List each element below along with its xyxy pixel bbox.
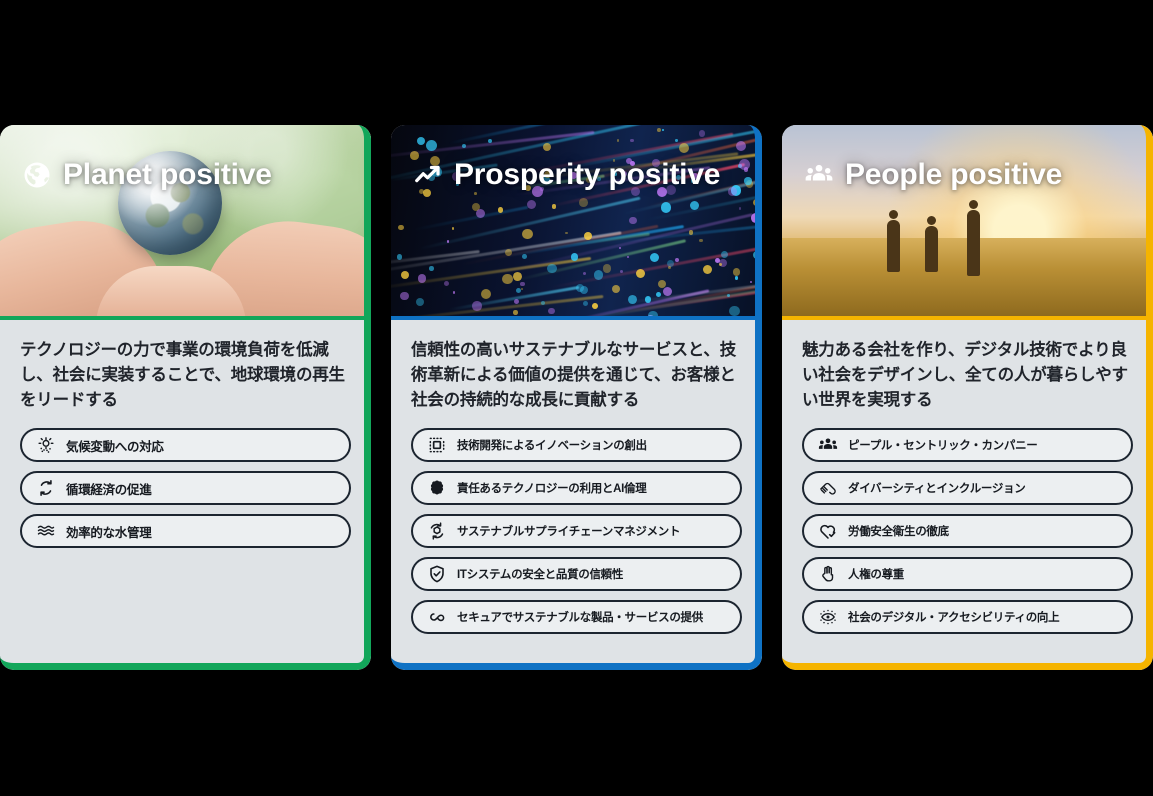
list-item-label: 技術開発によるイノベーションの創出 [457, 437, 647, 453]
pillar-cards-row: Planet positive テクノロジーの力で事業の環境負荷を低減し、社会に… [0, 125, 1153, 670]
eye-accessibility-icon [818, 607, 838, 627]
brain-icon [427, 478, 447, 498]
bokeh-dot-decoration [617, 139, 619, 141]
list-item-label: サステナブルサプライチェーンマネジメント [457, 523, 680, 539]
raised-hand-icon [818, 564, 838, 584]
water-waves-icon [36, 521, 56, 541]
pillar-item-list-people: ピープル・セントリック・カンパニー ダイバーシティとインクルージョン [802, 428, 1133, 634]
list-item-circular-economy[interactable]: 循環経済の促進 [20, 471, 351, 505]
list-item-ai-ethics[interactable]: 責任あるテクノロジーの利用とAI倫理 [411, 471, 742, 505]
bokeh-dot-decoration [739, 207, 742, 210]
bokeh-dot-decoration [498, 207, 504, 213]
bokeh-dot-decoration [401, 271, 409, 279]
list-item-supply-chain[interactable]: サステナブルサプライチェーンマネジメント [411, 514, 742, 548]
bokeh-dot-decoration [513, 310, 517, 314]
bokeh-dot-decoration [426, 140, 437, 151]
bokeh-dot-decoration [576, 284, 584, 292]
bokeh-dot-decoration [565, 232, 567, 234]
bokeh-dot-decoration [472, 301, 482, 311]
bokeh-dot-decoration [750, 281, 752, 283]
bokeh-dot-decoration [583, 272, 586, 275]
card-title-planet: Planet positive [22, 158, 272, 192]
bokeh-dot-decoration [627, 256, 629, 258]
bokeh-dot-decoration [474, 192, 477, 195]
bokeh-dot-decoration [453, 291, 455, 293]
card-body-planet: テクノロジーの力で事業の環境負荷を低減し、社会に実装することで、地球環境の再生を… [0, 320, 371, 666]
bokeh-dot-decoration [429, 266, 434, 271]
bokeh-dot-decoration [592, 303, 598, 309]
bokeh-dot-decoration [444, 281, 449, 286]
bokeh-dot-decoration [728, 187, 737, 196]
list-item-digital-accessibility[interactable]: 社会のデジタル・アクセシビリティの向上 [802, 600, 1133, 634]
bokeh-dot-decoration [727, 294, 730, 297]
pillar-item-list-prosperity: 技術開発によるイノベーションの創出 責任あるテクノロジーの利用とAI倫理 [411, 428, 742, 634]
shield-check-icon [427, 564, 447, 584]
bokeh-dot-decoration [689, 230, 693, 234]
infinity-icon [427, 607, 447, 627]
bokeh-dot-decoration [452, 227, 454, 229]
list-item-label: ダイバーシティとインクルージョン [848, 480, 1025, 496]
bokeh-dot-decoration [736, 141, 746, 151]
supply-chain-recycle-icon [427, 521, 447, 541]
bokeh-dot-decoration [630, 139, 634, 143]
people-group-icon [818, 435, 838, 455]
list-item-secure-sustainable-products[interactable]: セキュアでサステナブルな製品・サービスの提供 [411, 600, 742, 634]
bokeh-dot-decoration [527, 200, 536, 209]
card-title-prosperity: Prosperity positive [413, 158, 720, 192]
bokeh-dot-decoration [543, 143, 551, 151]
bokeh-dot-decoration [703, 265, 712, 274]
bokeh-dot-decoration [416, 298, 424, 306]
bokeh-dot-decoration [418, 274, 426, 282]
card-prosperity-positive[interactable]: Prosperity positive 信頼性の高いサステナブルなサービスと、技… [391, 125, 762, 670]
list-item-occupational-health-safety[interactable]: 労働安全衛生の徹底 [802, 514, 1133, 548]
globe-icon [22, 160, 52, 190]
bokeh-dot-decoration [744, 177, 751, 184]
adult-figure-3 [967, 210, 980, 276]
bokeh-dot-decoration [657, 128, 661, 132]
bokeh-dot-decoration [668, 266, 671, 269]
bokeh-dot-decoration [636, 269, 645, 278]
artwork-data-streams [391, 125, 762, 316]
child-figure-2 [925, 226, 938, 272]
bokeh-dot-decoration [721, 251, 728, 258]
bokeh-dot-decoration [502, 274, 512, 284]
bokeh-dot-decoration [520, 282, 524, 286]
recycle-icon [36, 478, 56, 498]
bokeh-dot-decoration [398, 225, 403, 230]
bokeh-dot-decoration [548, 308, 554, 314]
bokeh-dot-decoration [751, 213, 761, 223]
bokeh-dot-decoration [729, 306, 740, 316]
bokeh-dot-decoration [417, 137, 425, 145]
bokeh-dot-decoration [583, 301, 588, 306]
bokeh-dot-decoration [733, 268, 741, 276]
heart-check-icon [818, 521, 838, 541]
list-item-innovation[interactable]: 技術開発によるイノベーションの創出 [411, 428, 742, 462]
artwork-children-field-sunset [782, 125, 1153, 316]
card-title-people: People positive [804, 158, 1062, 192]
card-description: テクノロジーの力で事業の環境負荷を低減し、社会に実装することで、地球環境の再生を… [20, 338, 351, 412]
bokeh-dot-decoration [650, 253, 659, 262]
card-body-people: 魅力ある会社を作り、デジタル技術でより良い社会をデザインし、全ての人が暮らしやす… [782, 320, 1153, 666]
list-item-label: セキュアでサステナブルな製品・サービスの提供 [457, 609, 703, 625]
dashed-square-icon [427, 435, 447, 455]
list-item-label: 人権の尊重 [848, 566, 904, 582]
bokeh-dot-decoration [648, 311, 657, 316]
bokeh-dot-decoration [481, 289, 491, 299]
bokeh-dot-decoration [645, 296, 652, 303]
bokeh-dot-decoration [699, 239, 703, 243]
card-description: 魅力ある会社を作り、デジタル技術でより良い社会をデザインし、全ての人が暮らしやす… [802, 338, 1133, 412]
list-item-label: 労働安全衛生の徹底 [848, 523, 949, 539]
handshake-icon [818, 478, 838, 498]
list-item-label: 効率的な水管理 [66, 522, 151, 541]
bokeh-dot-decoration [603, 264, 612, 273]
bokeh-dot-decoration [753, 199, 760, 206]
bokeh-dot-decoration [552, 204, 557, 209]
bokeh-dot-decoration [699, 130, 705, 136]
bokeh-dot-decoration [675, 139, 677, 141]
slide-canvas: Planet positive テクノロジーの力で事業の環境負荷を低減し、社会に… [0, 0, 1153, 796]
trending-up-icon [413, 160, 443, 190]
bokeh-dot-decoration [522, 254, 527, 259]
list-item-label: 循環経済の促進 [66, 479, 151, 498]
bokeh-dot-decoration [735, 276, 738, 279]
list-item-people-centric-company[interactable]: ピープル・セントリック・カンパニー [802, 428, 1133, 462]
bokeh-dot-decoration [619, 247, 621, 249]
bokeh-dot-decoration [579, 198, 588, 207]
card-planet-positive[interactable]: Planet positive テクノロジーの力で事業の環境負荷を低減し、社会に… [0, 125, 371, 670]
list-item-climate-action[interactable]: 気候変動への対応 [20, 428, 351, 462]
pillar-item-list-planet: 気候変動への対応 循環経済の促進 [20, 428, 351, 548]
bokeh-dot-decoration [397, 254, 403, 260]
card-title-text: People positive [845, 158, 1062, 192]
list-item-water-management[interactable]: 効率的な水管理 [20, 514, 351, 548]
card-image-prosperity: Prosperity positive [391, 125, 762, 320]
list-item-label: ITシステムの安全と品質の信頼性 [457, 566, 623, 582]
bokeh-dot-decoration [584, 232, 592, 240]
card-body-prosperity: 信頼性の高いサステナブルなサービスと、技術革新による価値の提供を通じて、お客様と… [391, 320, 762, 666]
card-people-positive[interactable]: People positive 魅力ある会社を作り、デジタル技術でより良い社会を… [782, 125, 1153, 670]
bokeh-dot-decoration [679, 143, 689, 153]
bokeh-dot-decoration [757, 290, 762, 299]
list-item-label: 気候変動への対応 [66, 436, 164, 455]
list-item-label: 社会のデジタル・アクセシビリティの向上 [848, 609, 1059, 625]
list-item-human-rights[interactable]: 人権の尊重 [802, 557, 1133, 591]
card-title-text: Planet positive [63, 158, 272, 192]
card-image-planet: Planet positive [0, 125, 371, 320]
bokeh-dot-decoration [612, 285, 620, 293]
bokeh-dot-decoration [522, 229, 533, 240]
list-item-label: ピープル・セントリック・カンパニー [848, 437, 1037, 453]
sun-climate-icon [36, 435, 56, 455]
bokeh-dot-decoration [594, 270, 604, 280]
card-description: 信頼性の高いサステナブルなサービスと、技術革新による価値の提供を通じて、お客様と… [411, 338, 742, 412]
bokeh-dot-decoration [661, 202, 672, 213]
child-figure-1 [887, 220, 900, 272]
list-item-diversity-inclusion[interactable]: ダイバーシティとインクルージョン [802, 471, 1133, 505]
bokeh-dot-decoration [739, 159, 750, 170]
card-title-text: Prosperity positive [454, 158, 720, 192]
list-item-label: 責任あるテクノロジーの利用とAI倫理 [457, 480, 646, 496]
bokeh-dot-decoration [571, 253, 579, 261]
people-group-icon [804, 160, 834, 190]
list-item-it-security-quality[interactable]: ITシステムの安全と品質の信頼性 [411, 557, 742, 591]
card-image-people: People positive [782, 125, 1153, 320]
bokeh-dot-decoration [521, 288, 523, 290]
bokeh-dot-decoration [629, 217, 636, 224]
bokeh-dot-decoration [753, 251, 761, 259]
artwork-hands-globe [0, 125, 371, 316]
bokeh-dot-decoration [400, 292, 409, 301]
bokeh-dot-decoration [662, 129, 664, 131]
